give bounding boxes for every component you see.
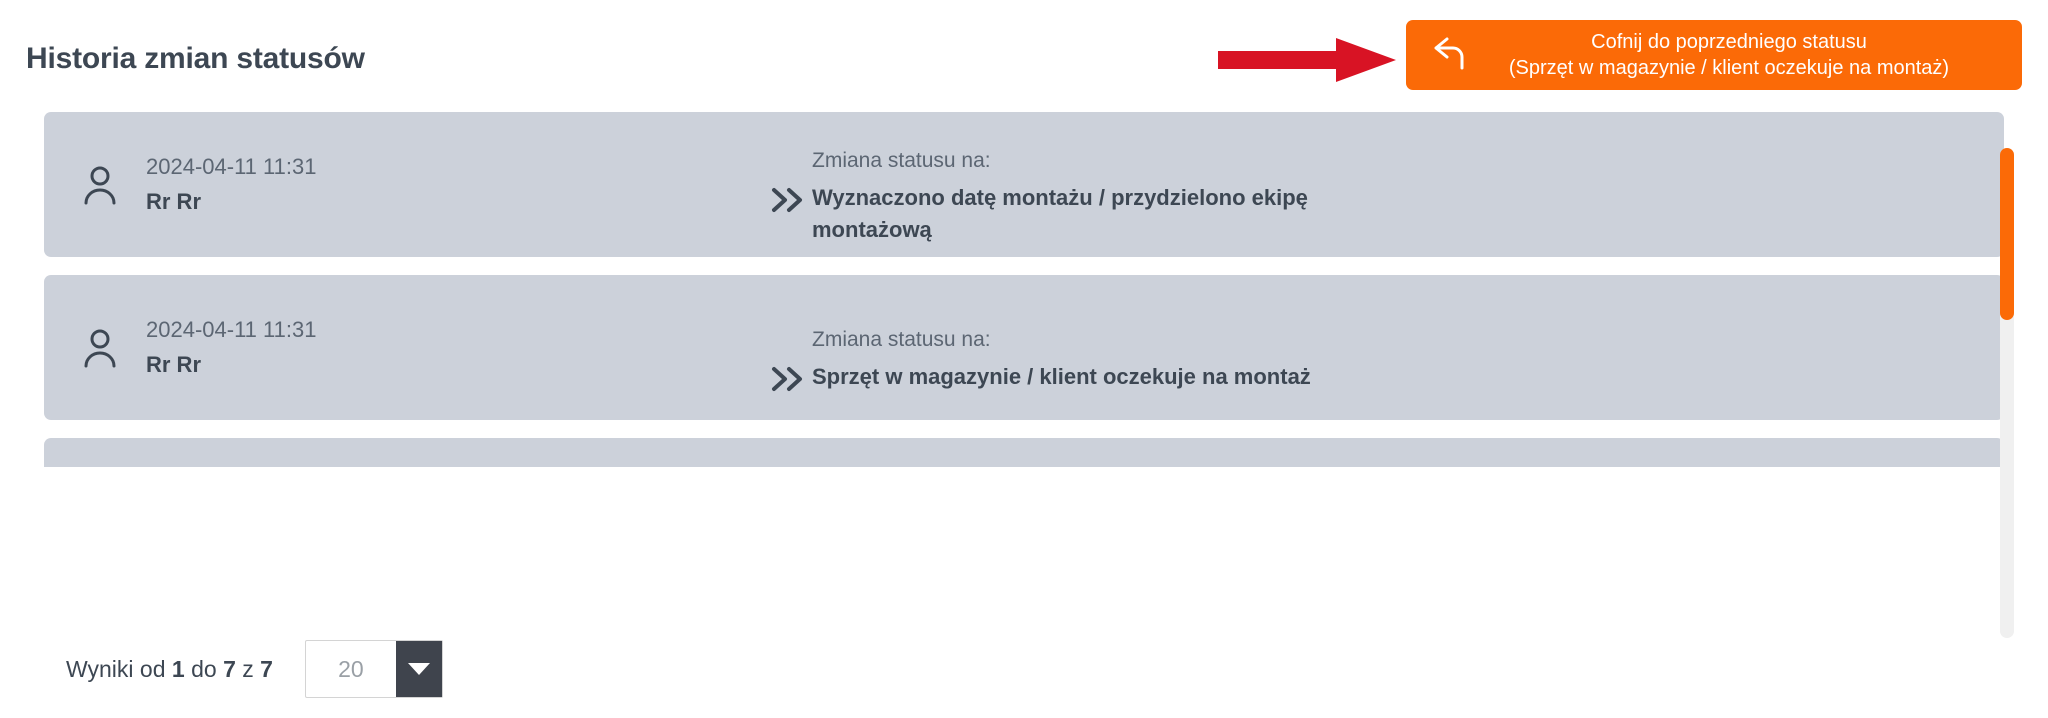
results-to: 7 xyxy=(223,656,236,682)
person-icon xyxy=(80,326,120,370)
panel-header: Historia zmian statusów Cofnij do poprze… xyxy=(0,0,2048,112)
status-value: Wyznaczono datę montażu / przydzielono e… xyxy=(812,182,1332,246)
vertical-scrollbar-track[interactable] xyxy=(2000,148,2014,638)
revert-button-labels: Cofnij do poprzedniego statusu (Sprzęt w… xyxy=(1470,29,2008,82)
status-block: Zmiana statusu na: Sprzęt w magazynie / … xyxy=(812,328,1332,393)
row-username: Rr Rr xyxy=(146,352,201,377)
status-history-list[interactable]: 2024-04-11 11:31 Rr Rr Zmiana statusu na… xyxy=(0,112,2048,467)
page-size-value[interactable]: 20 xyxy=(306,656,396,683)
table-row[interactable]: 2024-04-11 11:31 Rr Rr Zmiana statusu na… xyxy=(44,275,2004,420)
row-user-info: 2024-04-11 11:31 Rr Rr xyxy=(44,150,764,218)
red-pointer-arrow-icon xyxy=(1218,38,1396,82)
row-timestamp: 2024-04-11 11:31 xyxy=(146,317,316,342)
results-prefix: Wyniki od xyxy=(66,656,172,682)
double-chevron-right-icon xyxy=(764,328,812,392)
status-value: Sprzęt w magazynie / klient oczekuje na … xyxy=(812,361,1332,393)
results-summary: Wyniki od 1 do 7 z 7 xyxy=(66,656,273,683)
status-change-label: Zmiana statusu na: xyxy=(812,149,1332,173)
revert-to-previous-status-button[interactable]: Cofnij do poprzedniego statusu (Sprzęt w… xyxy=(1406,20,2022,90)
table-row[interactable]: 2024-04-05 15:15 Rr Rr Zmiana statusu na… xyxy=(44,438,2004,467)
vertical-scrollbar-thumb[interactable] xyxy=(2000,148,2014,320)
results-of: z xyxy=(236,656,260,682)
row-timestamp: 2024-04-11 11:31 xyxy=(146,154,316,179)
pagination-footer: Wyniki od 1 do 7 z 7 20 xyxy=(0,620,2048,718)
revert-button-line2: (Sprzęt w magazynie / klient oczekuje na… xyxy=(1509,57,1949,79)
row-status-info: Zmiana statusu na: Wyznaczono datę monta… xyxy=(764,123,2004,246)
row-status-info: Zmiana statusu na: Wyznaczono datę monta… xyxy=(764,449,2004,467)
results-from: 1 xyxy=(172,656,185,682)
person-icon xyxy=(80,163,120,207)
chevron-down-icon[interactable] xyxy=(396,641,442,697)
page-title: Historia zmian statusów xyxy=(26,42,365,76)
double-chevron-right-icon xyxy=(764,149,812,213)
row-username: Rr Rr xyxy=(146,189,201,214)
row-status-info: Zmiana statusu na: Sprzęt w magazynie / … xyxy=(764,302,2004,393)
undo-arrow-icon xyxy=(1424,32,1470,78)
table-row[interactable]: 2024-04-11 11:31 Rr Rr Zmiana statusu na… xyxy=(44,112,2004,257)
results-mid: do xyxy=(185,656,223,682)
results-total: 7 xyxy=(260,656,273,682)
status-change-label: Zmiana statusu na: xyxy=(812,328,1332,352)
revert-button-line1: Cofnij do poprzedniego statusu xyxy=(1591,31,1867,53)
row-meta: 2024-04-11 11:31 Rr Rr xyxy=(146,313,316,381)
status-history-panel: Historia zmian statusów Cofnij do poprze… xyxy=(0,0,2048,718)
row-meta: 2024-04-11 11:31 Rr Rr xyxy=(146,150,316,218)
status-block: Zmiana statusu na: Wyznaczono datę monta… xyxy=(812,149,1332,246)
row-user-info: 2024-04-11 11:31 Rr Rr xyxy=(44,313,764,381)
page-size-select[interactable]: 20 xyxy=(305,640,443,698)
